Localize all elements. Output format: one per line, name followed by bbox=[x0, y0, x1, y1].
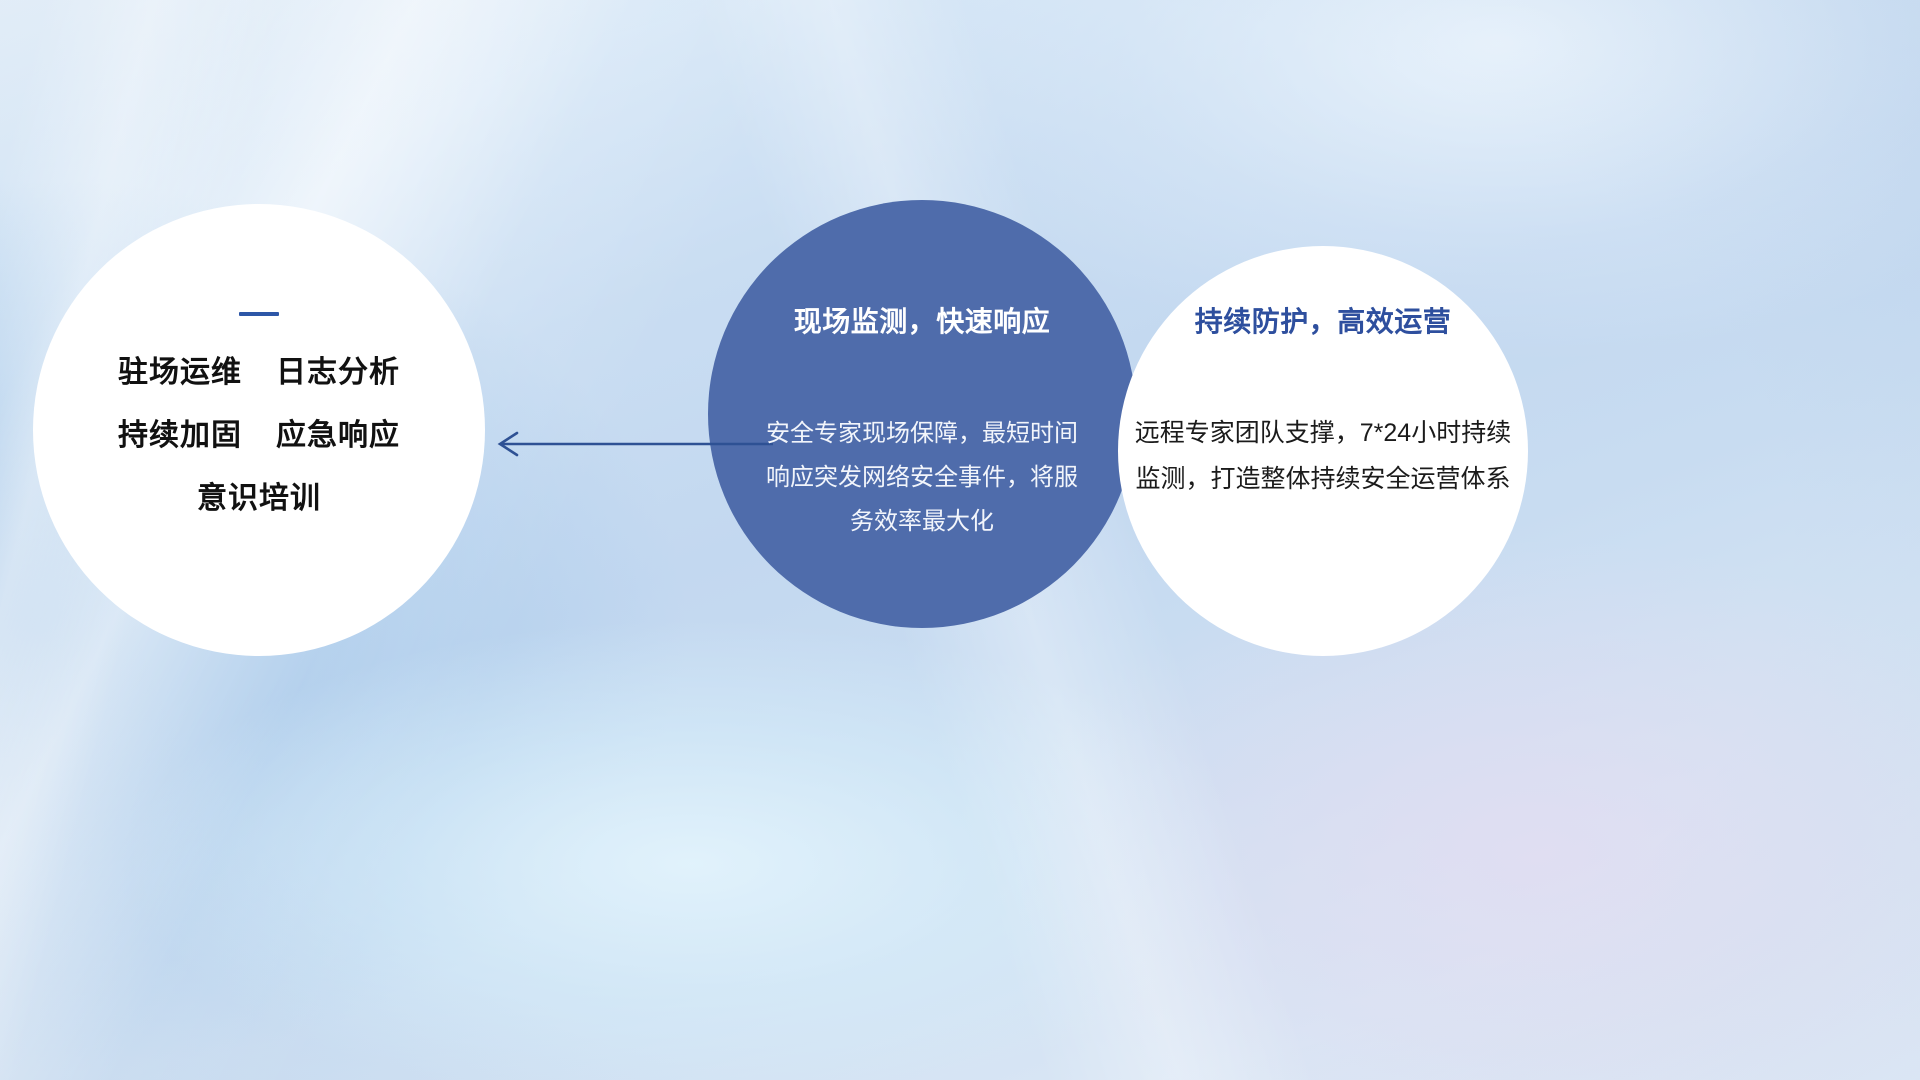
left-circle-row-3: 意识培训 bbox=[197, 484, 321, 514]
right-circle-body: 远程专家团队支撑，7*24小时持续监测，打造整体持续安全运营体系 bbox=[1134, 410, 1512, 502]
accent-dash-mark bbox=[239, 312, 279, 316]
tag-emergency-response: 应急响应 bbox=[276, 421, 400, 451]
left-circle-row-1: 驻场运维 日志分析 bbox=[118, 358, 400, 388]
right-circle-content: 持续防护，高效运营 远程专家团队支撑，7*24小时持续监测，打造整体持续安全运营… bbox=[1118, 246, 1528, 656]
tag-continuous-hardening: 持续加固 bbox=[118, 421, 242, 451]
middle-circle-title: 现场监测，快速响应 bbox=[708, 300, 1136, 340]
slide-canvas: 驻场运维 日志分析 持续加固 应急响应 意识培训 现场监测，快速响应 安全专家现… bbox=[0, 0, 1920, 1080]
tag-log-analysis: 日志分析 bbox=[276, 358, 400, 388]
middle-circle-content: 现场监测，快速响应 安全专家现场保障，最短时间响应突发网络安全事件，将服务效率最… bbox=[708, 200, 1136, 628]
middle-circle-body: 安全专家现场保障，最短时间响应突发网络安全事件，将服务效率最大化 bbox=[766, 412, 1078, 544]
left-circle-row-2: 持续加固 应急响应 bbox=[118, 421, 400, 451]
tag-awareness-training: 意识培训 bbox=[197, 484, 321, 514]
right-circle-title: 持续防护，高效运营 bbox=[1118, 300, 1528, 340]
left-circle-content: 驻场运维 日志分析 持续加固 应急响应 意识培训 bbox=[33, 204, 485, 656]
tag-onsite-ops: 驻场运维 bbox=[118, 358, 242, 388]
